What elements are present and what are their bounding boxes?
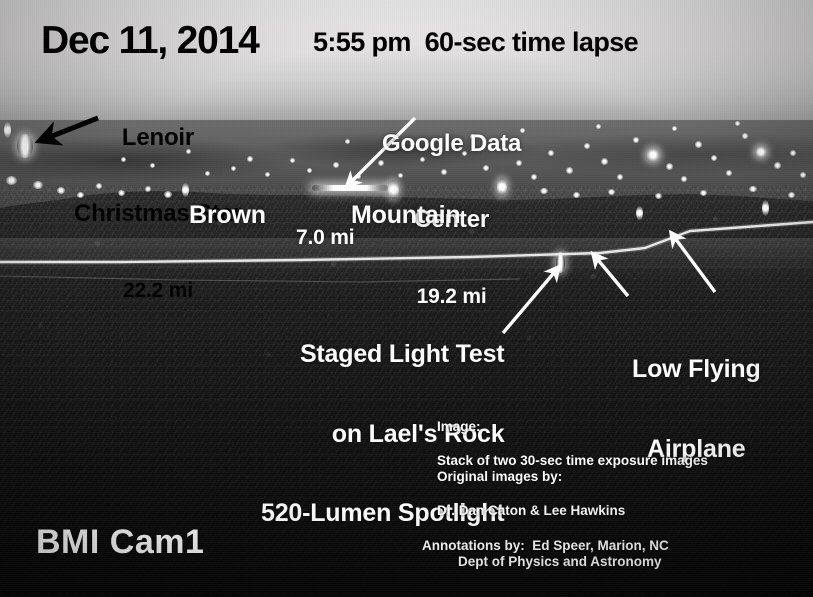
annotated-photo-canvas: Dec 11, 2014 5:55 pm 60-sec time lapse L… [0, 0, 813, 597]
film-grain-overlay [0, 0, 813, 597]
